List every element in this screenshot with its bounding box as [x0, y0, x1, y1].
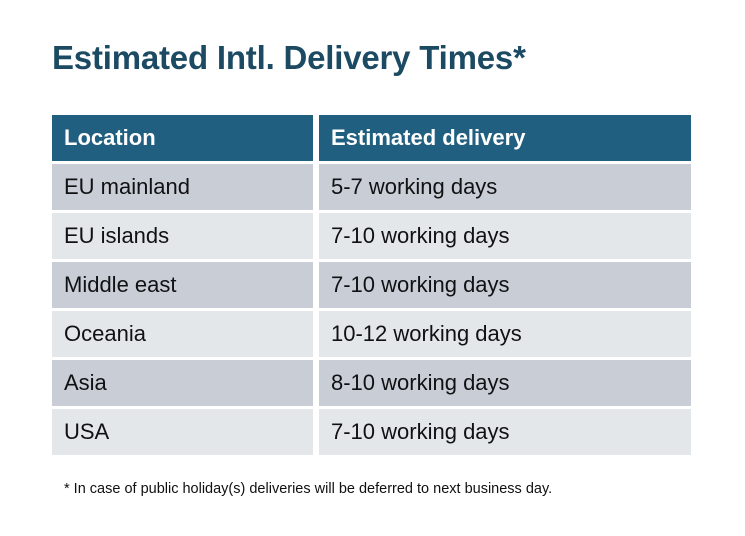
delivery-times-page: Estimated Intl. Delivery Times* Location… — [0, 0, 745, 536]
cell-estimated-delivery: 7-10 working days — [319, 213, 691, 259]
cell-location: EU islands — [52, 213, 313, 259]
cell-estimated-delivery: 8-10 working days — [319, 360, 691, 406]
table-row: USA 7-10 working days — [52, 409, 691, 455]
table-row: Middle east 7-10 working days — [52, 262, 691, 308]
cell-location: USA — [52, 409, 313, 455]
cell-location: Middle east — [52, 262, 313, 308]
page-title: Estimated Intl. Delivery Times* — [52, 36, 526, 80]
cell-location: EU mainland — [52, 164, 313, 210]
footnote-text: * In case of public holiday(s) deliverie… — [64, 479, 552, 499]
cell-estimated-delivery: 10-12 working days — [319, 311, 691, 357]
cell-estimated-delivery: 5-7 working days — [319, 164, 691, 210]
table-header-row: Location Estimated delivery — [52, 115, 691, 161]
cell-location: Asia — [52, 360, 313, 406]
table-row: Oceania 10-12 working days — [52, 311, 691, 357]
cell-estimated-delivery: 7-10 working days — [319, 262, 691, 308]
cell-location: Oceania — [52, 311, 313, 357]
column-header-location: Location — [52, 115, 313, 161]
table-row: EU islands 7-10 working days — [52, 213, 691, 259]
table-row: EU mainland 5-7 working days — [52, 164, 691, 210]
cell-estimated-delivery: 7-10 working days — [319, 409, 691, 455]
table-row: Asia 8-10 working days — [52, 360, 691, 406]
column-header-estimated-delivery: Estimated delivery — [319, 115, 691, 161]
estimated-delivery-times-table: Location Estimated delivery EU mainland … — [52, 115, 691, 455]
